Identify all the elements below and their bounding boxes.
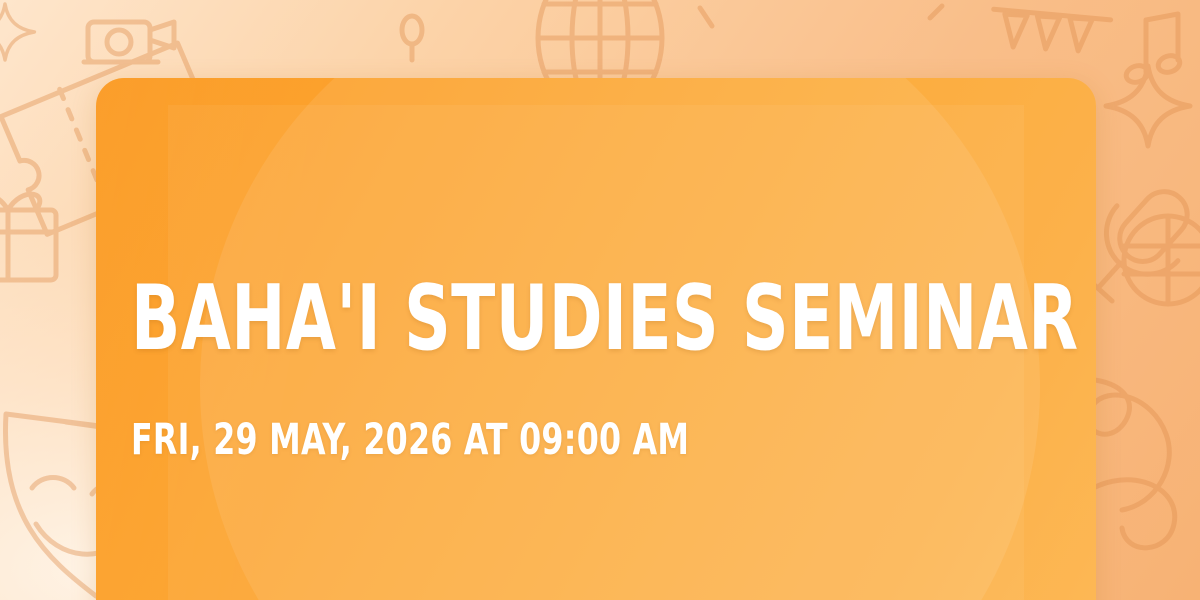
- event-banner: Baha'i Studies Seminar Fri, 29 May, 2026…: [0, 0, 1200, 600]
- event-date: Fri, 29 May, 2026 at 09:00 AM: [131, 419, 689, 462]
- sparkle-icon: [0, 4, 34, 60]
- music-note-icon: [1124, 14, 1182, 85]
- card-content: Baha'i Studies Seminar Fri, 29 May, 2026…: [131, 78, 1096, 600]
- event-title: Baha'i Studies Seminar: [131, 274, 1079, 364]
- balloon-icon: [402, 16, 422, 60]
- projector-icon: [84, 22, 174, 62]
- bunting-flags-icon: [986, 0, 1111, 68]
- event-card: Baha'i Studies Seminar Fri, 29 May, 2026…: [96, 78, 1096, 600]
- gift-icon: [0, 194, 56, 280]
